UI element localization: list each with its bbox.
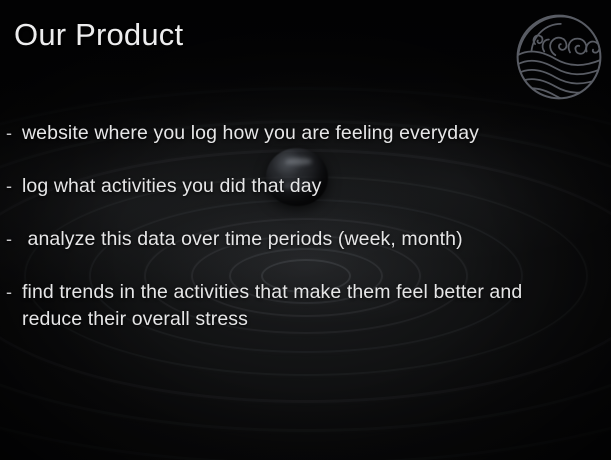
list-item: - log what activities you did that day — [0, 173, 600, 200]
water-wave-circle-logo — [513, 11, 605, 103]
page-title: Our Product — [14, 17, 183, 53]
bullet-marker-icon: - — [0, 173, 22, 200]
bullet-text: find trends in the activities that make … — [22, 279, 600, 333]
bullet-marker-icon: - — [0, 226, 22, 253]
bullet-text: log what activities you did that day — [22, 173, 600, 200]
list-item: - analyze this data over time periods (w… — [0, 226, 600, 253]
bullet-list: - website where you log how you are feel… — [0, 120, 600, 359]
bullet-text: website where you log how you are feelin… — [22, 120, 600, 147]
list-item: - find trends in the activities that mak… — [0, 279, 600, 333]
list-item: - website where you log how you are feel… — [0, 120, 600, 147]
bullet-text: analyze this data over time periods (wee… — [22, 226, 600, 253]
presentation-slide: Our Product - website where you log how … — [0, 0, 611, 460]
bullet-marker-icon: - — [0, 120, 22, 147]
bullet-marker-icon: - — [0, 279, 22, 306]
